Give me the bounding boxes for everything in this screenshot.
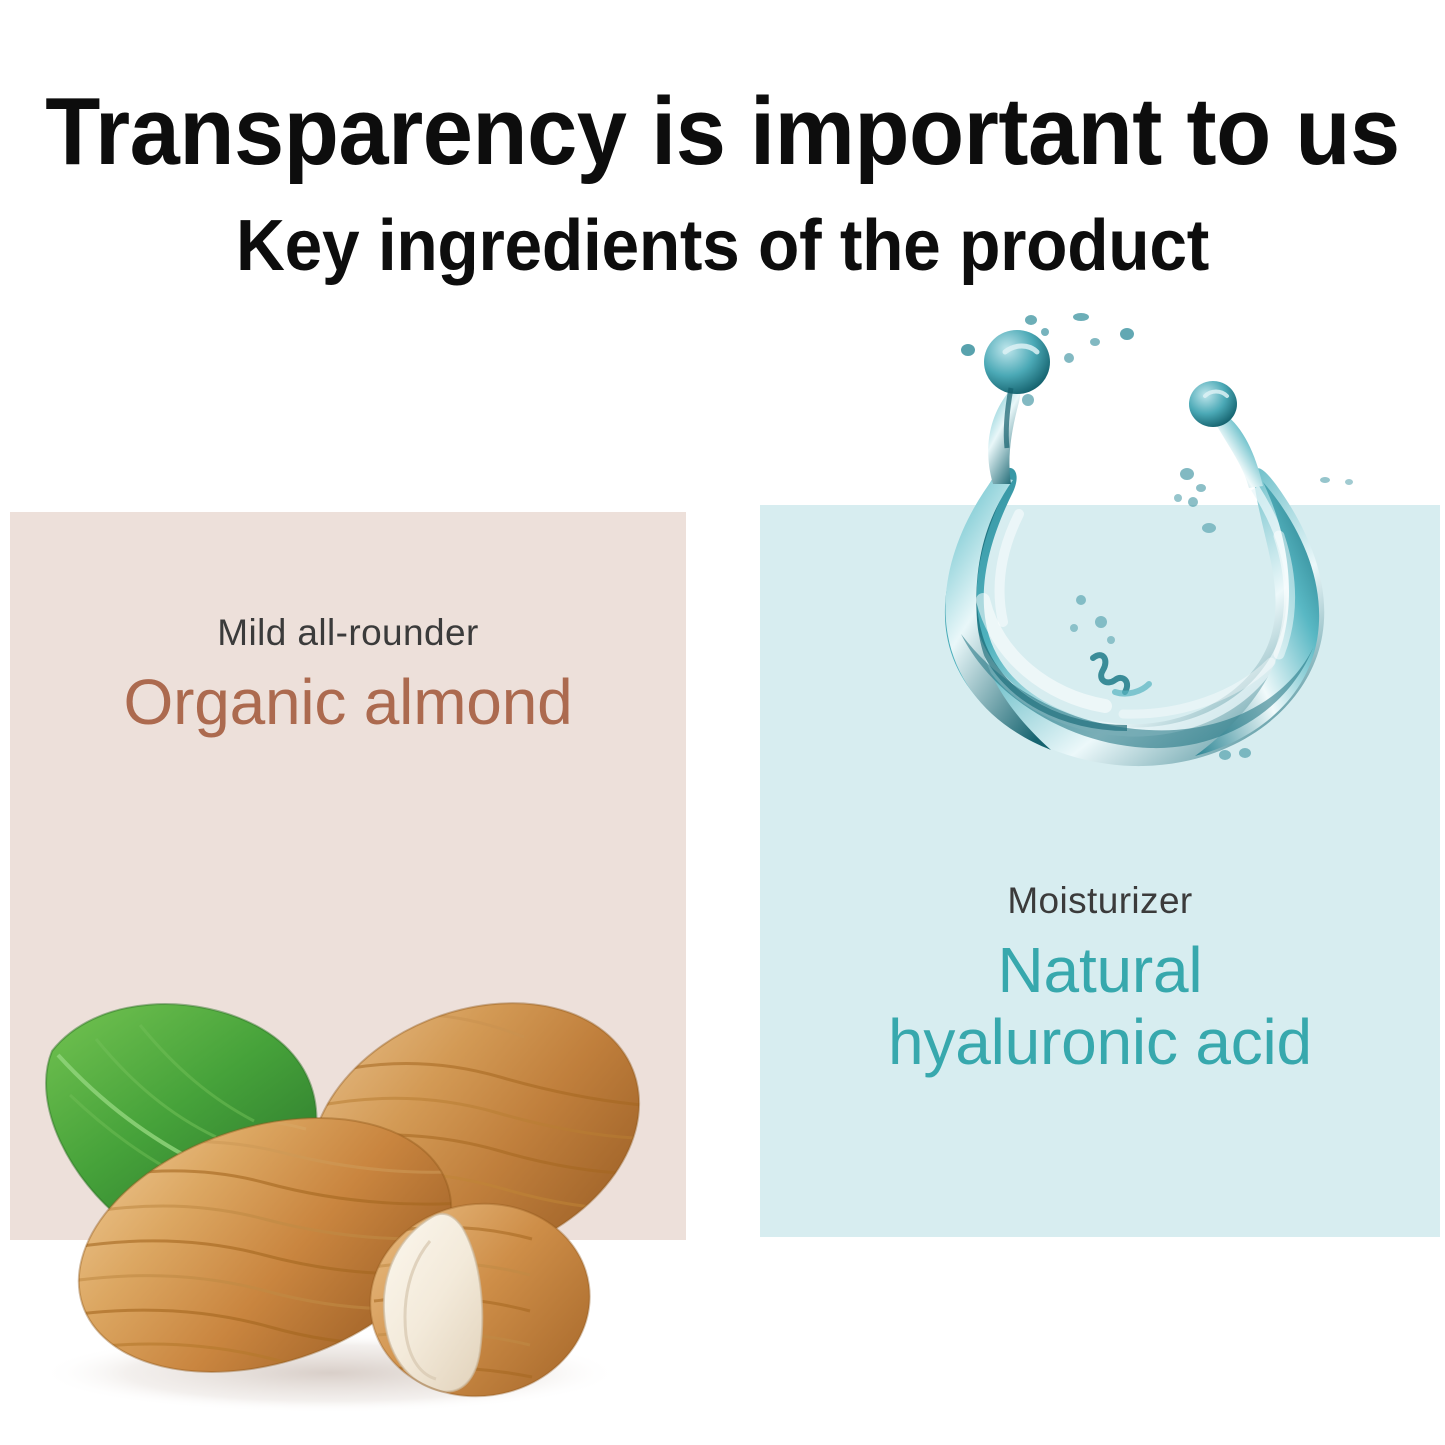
panel-hyaluronic-acid xyxy=(760,505,1440,1237)
water-droplet-right xyxy=(1189,381,1263,488)
almond-shadow xyxy=(40,1333,620,1413)
page-subtitle: Key ingredients of the product xyxy=(43,208,1401,286)
page-title: Transparency is important to us xyxy=(43,82,1401,182)
heading-block: Transparency is important to us Key ingr… xyxy=(0,82,1445,286)
hyaluronic-acid-name: Natural hyaluronic acid xyxy=(760,935,1440,1078)
water-droplet-left xyxy=(984,330,1050,484)
hyaluronic-acid-name-line-2: hyaluronic acid xyxy=(760,1007,1440,1079)
organic-almond-text-group: Mild all-rounder Organic almond xyxy=(10,614,686,739)
hyaluronic-acid-name-line-1: Natural xyxy=(760,935,1440,1007)
hyaluronic-acid-kicker: Moisturizer xyxy=(760,882,1440,919)
organic-almond-kicker: Mild all-rounder xyxy=(10,614,686,651)
organic-almond-name: Organic almond xyxy=(10,667,686,739)
ingredient-infographic: Transparency is important to us Key ingr… xyxy=(0,0,1445,1445)
hyaluronic-acid-text-group: Moisturizer Natural hyaluronic acid xyxy=(760,882,1440,1078)
